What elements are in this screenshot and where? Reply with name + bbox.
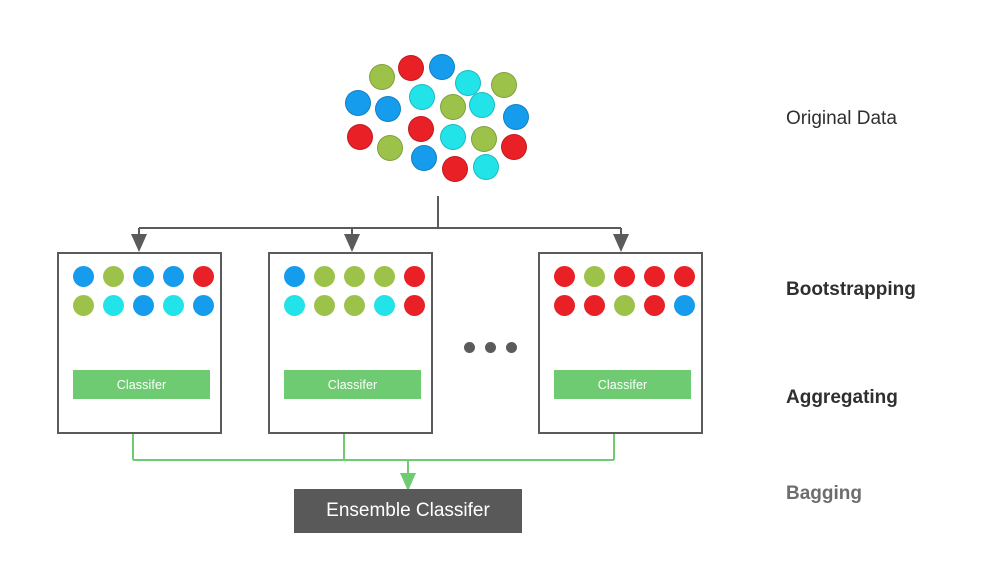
sample-dot-r1-c5 [193, 266, 214, 287]
data-point-3 [429, 54, 455, 80]
sample-dot-r1-c5 [404, 266, 425, 287]
sample-dot-r1-c4 [644, 266, 665, 287]
data-point-15 [440, 124, 466, 150]
data-point-13 [347, 124, 373, 150]
sample-dot-r1-c1 [554, 266, 575, 287]
sample-dot-r1-c4 [374, 266, 395, 287]
data-point-7 [409, 84, 435, 110]
distribution-tree [139, 196, 621, 243]
sample-dot-r2-c5 [404, 295, 425, 316]
data-point-8 [440, 94, 466, 120]
sample-dot-row [284, 266, 424, 287]
sample-dot-r1-c4 [163, 266, 184, 287]
bootstrap-sample-box-1[interactable]: Classifer [57, 252, 222, 434]
data-point-14 [377, 135, 403, 161]
data-point-6 [375, 96, 401, 122]
data-point-2 [398, 55, 424, 81]
data-point-20 [473, 154, 499, 180]
data-point-11 [503, 104, 529, 130]
ellipsis-dot-1 [464, 342, 475, 353]
sample-dot-grid-2 [284, 266, 424, 324]
classifier-chip-1[interactable]: Classifer [73, 370, 210, 399]
sample-dot-r1-c1 [284, 266, 305, 287]
sample-dot-r2-c2 [103, 295, 124, 316]
sample-dot-row [554, 295, 694, 316]
data-point-5 [345, 90, 371, 116]
bootstrap-sample-box-n[interactable]: Classifer [538, 252, 703, 434]
sample-dot-r1-c2 [584, 266, 605, 287]
sample-dot-r2-c3 [344, 295, 365, 316]
stage-label-aggregating: Aggregating [786, 387, 898, 409]
sample-dot-grid-1 [73, 266, 213, 324]
sample-dot-r1-c1 [73, 266, 94, 287]
sample-dot-r2-c5 [193, 295, 214, 316]
sample-dot-r2-c2 [314, 295, 335, 316]
sample-dot-r1-c3 [614, 266, 635, 287]
sample-dot-r2-c4 [163, 295, 184, 316]
original-data-cloud [345, 52, 535, 197]
sample-dot-r1-c5 [674, 266, 695, 287]
ellipsis-indicator [464, 342, 517, 353]
sample-dot-r2-c1 [554, 295, 575, 316]
data-point-17 [501, 134, 527, 160]
sample-dot-r1-c3 [133, 266, 154, 287]
sample-dot-r1-c3 [344, 266, 365, 287]
ensemble-classifier-box[interactable]: Ensemble Classifer [294, 489, 522, 533]
sample-dot-r2-c3 [133, 295, 154, 316]
data-point-16 [471, 126, 497, 152]
classifier-chip-n[interactable]: Classifer [554, 370, 691, 399]
sample-dot-r1-c2 [103, 266, 124, 287]
sample-dot-r2-c1 [284, 295, 305, 316]
sample-dot-r2-c1 [73, 295, 94, 316]
sample-dot-r2-c4 [374, 295, 395, 316]
diagram-canvas: Classifer Classifer Classifer Ensemble C… [0, 0, 1000, 565]
classifier-chip-2[interactable]: Classifer [284, 370, 421, 399]
sample-dot-row [554, 266, 694, 287]
data-point-18 [411, 145, 437, 171]
sample-dot-r2-c4 [644, 295, 665, 316]
stage-label-original-data: Original Data [786, 108, 897, 130]
stage-label-bootstrapping: Bootstrapping [786, 279, 916, 301]
sample-dot-r2-c3 [614, 295, 635, 316]
sample-dot-grid-n [554, 266, 694, 324]
bootstrap-sample-box-2[interactable]: Classifer [268, 252, 433, 434]
sample-dot-r2-c5 [674, 295, 695, 316]
data-point-9 [469, 92, 495, 118]
sample-dot-r1-c2 [314, 266, 335, 287]
data-point-19 [442, 156, 468, 182]
data-point-1 [369, 64, 395, 90]
data-point-12 [408, 116, 434, 142]
sample-dot-r2-c2 [584, 295, 605, 316]
data-point-10 [491, 72, 517, 98]
sample-dot-row [73, 266, 213, 287]
sample-dot-row [284, 295, 424, 316]
ellipsis-dot-2 [485, 342, 496, 353]
ellipsis-dot-3 [506, 342, 517, 353]
stage-label-bagging: Bagging [786, 483, 862, 505]
sample-dot-row [73, 295, 213, 316]
